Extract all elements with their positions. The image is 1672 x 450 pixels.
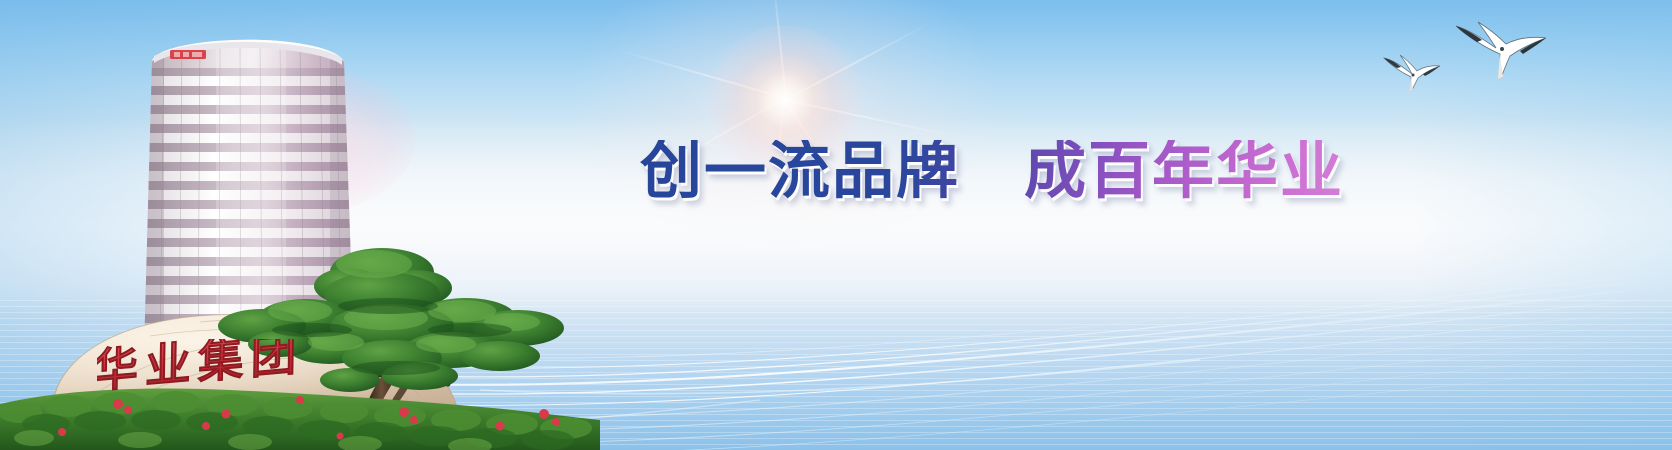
landscape-foreground [0, 218, 600, 450]
hedge-groundcover [0, 389, 600, 450]
hero-banner: 华业集团 创一流品牌 成百年华业 [0, 0, 1672, 450]
banner-headline: 创一流品牌 成百年华业 [640, 140, 1344, 202]
